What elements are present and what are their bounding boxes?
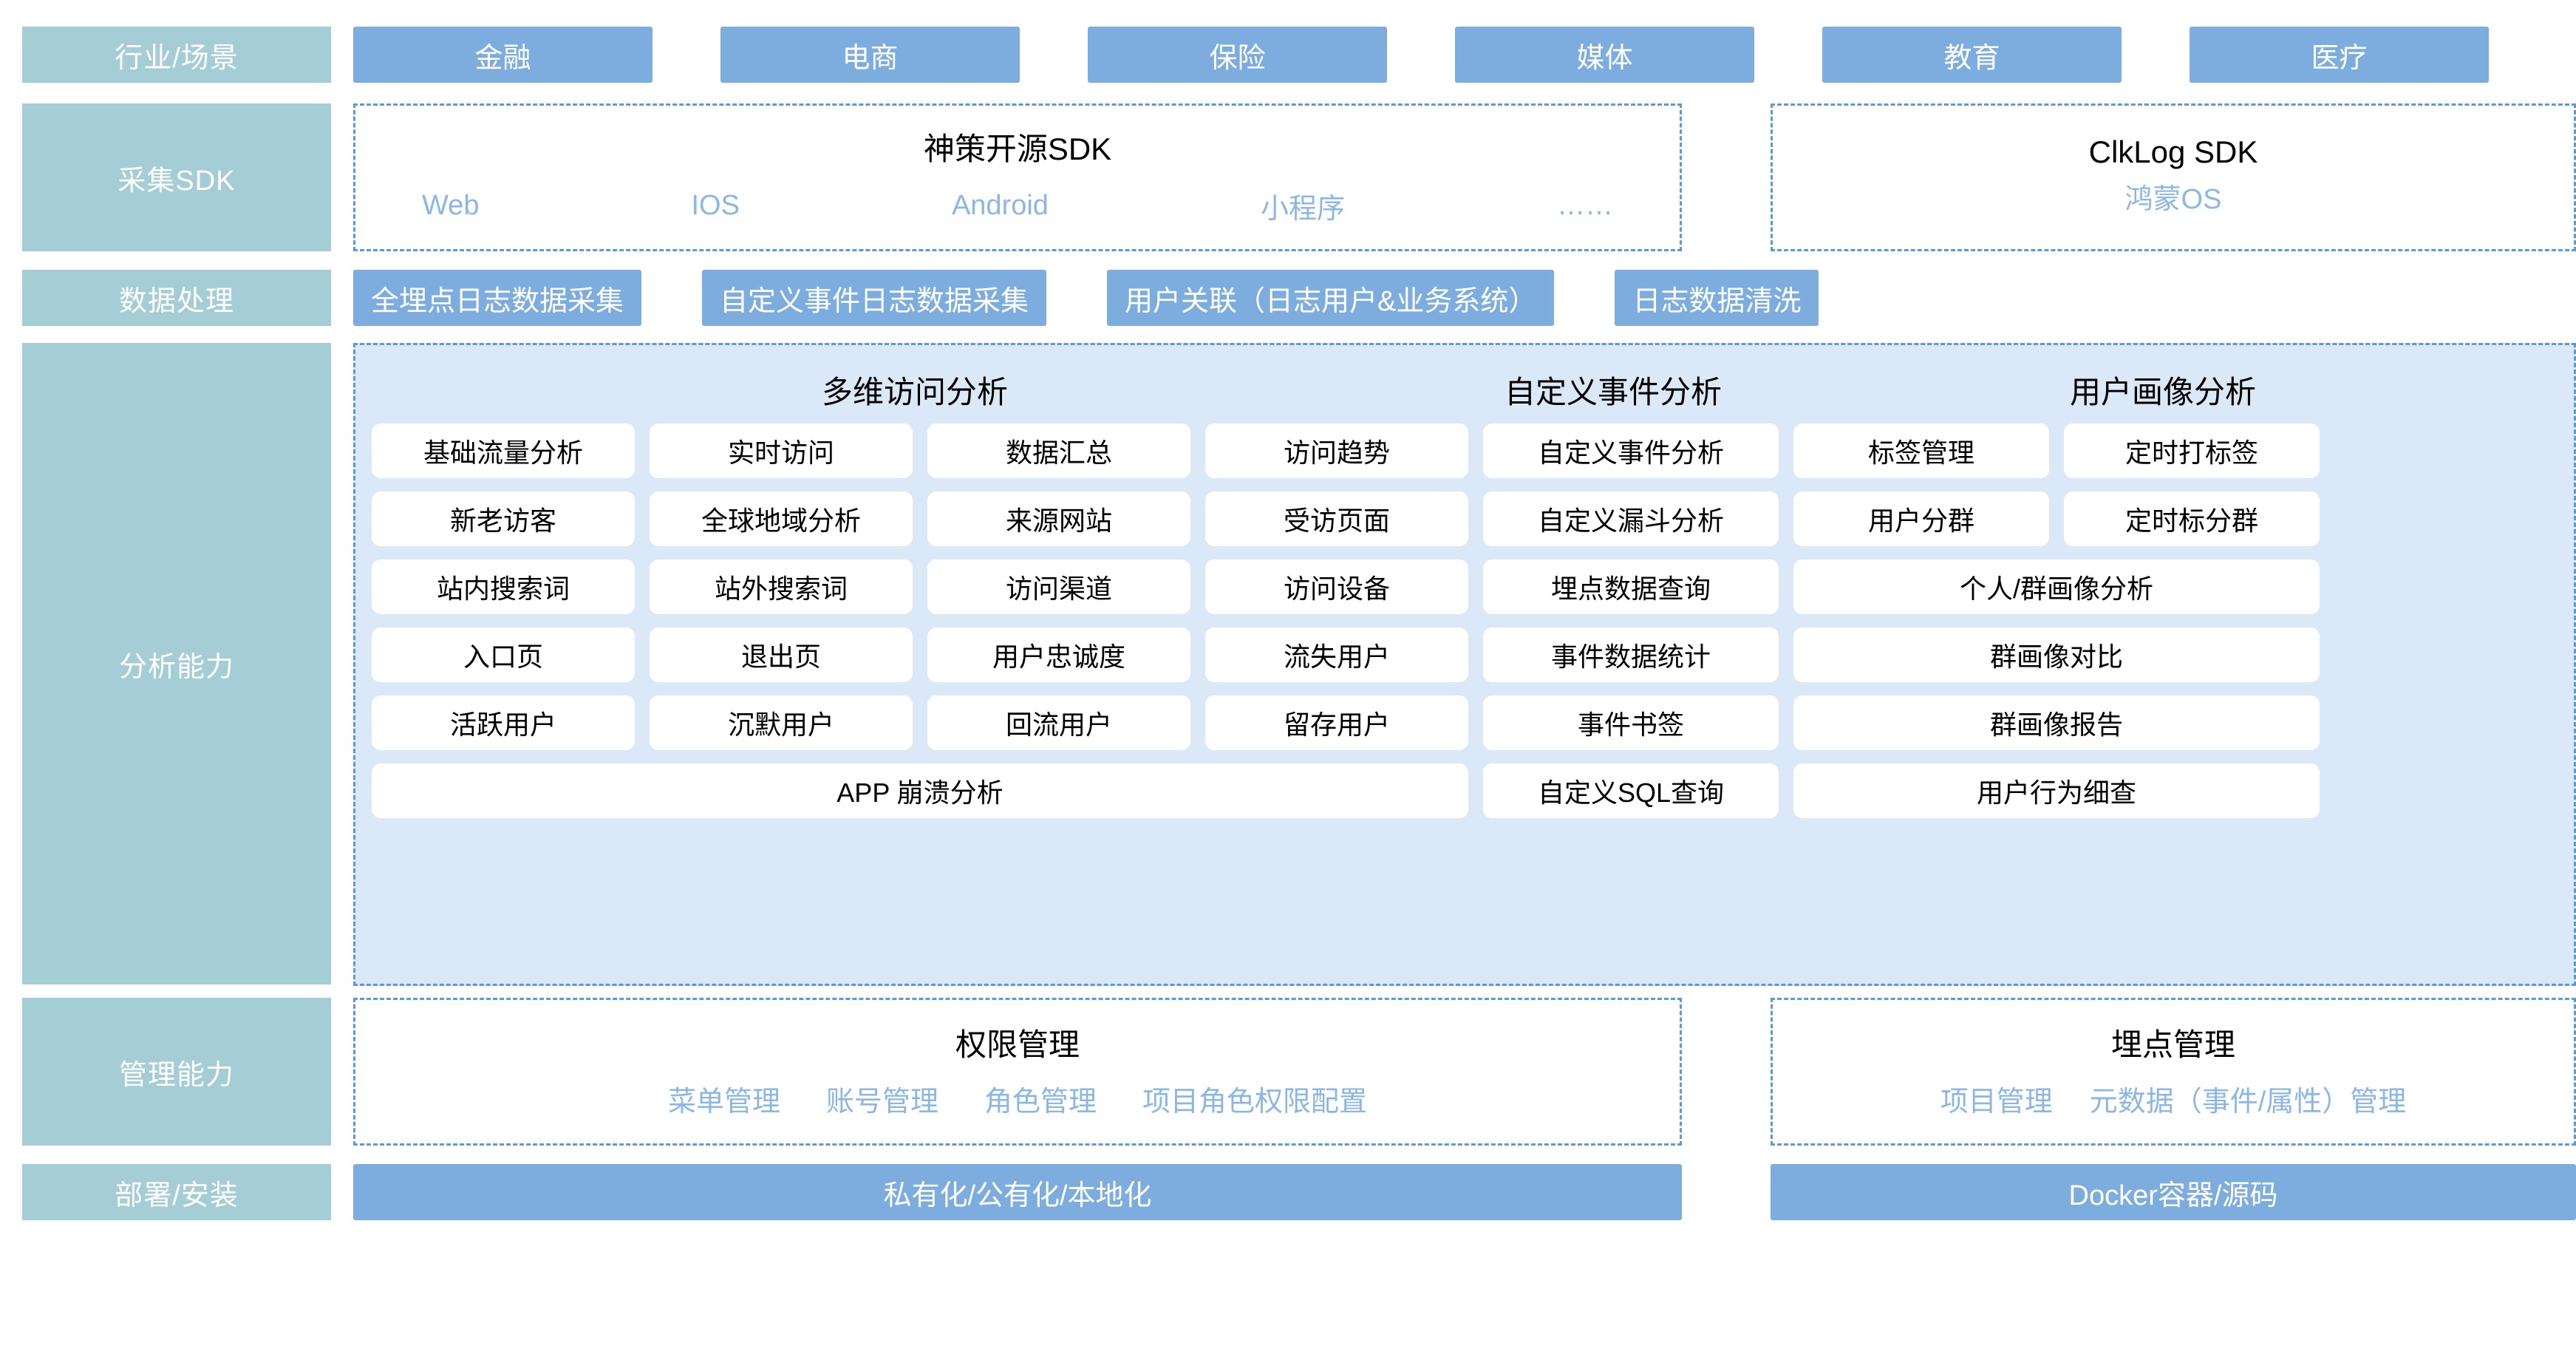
deployment-chip-private-public-local[interactable]: 私有化/公有化/本地化 <box>353 1164 1682 1220</box>
analysis-cell-individual-group-profile[interactable]: 个人/群画像分析 <box>1793 559 2320 614</box>
sdk-platform-list: Web IOS Android 小程序 …… <box>355 186 1680 226</box>
analysis-cell-group-profile-comparison[interactable]: 群画像对比 <box>1793 627 2320 682</box>
industry-chip-media[interactable]: 媒体 <box>1455 27 1754 83</box>
sdk-platform-android[interactable]: Android <box>952 190 1049 222</box>
management-group-title: 埋点管理 <box>2111 1020 2235 1065</box>
analysis-column-headers: 多维访问分析 自定义事件分析 用户画像分析 <box>372 355 2558 423</box>
stage-label-industry: 行业/场景 <box>22 27 331 83</box>
permission-item-list: 菜单管理 账号管理 角色管理 项目角色权限配置 <box>668 1078 1367 1119</box>
stage-label-management-capability: 管理能力 <box>22 998 331 1146</box>
analysis-header-multidimensional-visit: 多维访问分析 <box>372 367 1458 412</box>
analysis-cell-tag-management[interactable]: 标签管理 <box>1793 423 2049 478</box>
permission-item-account-management[interactable]: 账号管理 <box>826 1078 938 1119</box>
analysis-grid-row: 入口页 退出页 用户忠诚度 流失用户 事件数据统计 群画像对比 <box>372 627 2558 682</box>
analysis-grid-row: 活跃用户 沉默用户 回流用户 留存用户 事件书签 群画像报告 <box>372 695 2558 750</box>
sdk-platform-harmonyos[interactable]: 鸿蒙OS <box>2125 176 2222 217</box>
analysis-cell-landing-pages[interactable]: 受访页面 <box>1205 491 1468 546</box>
analysis-cell-churned-users[interactable]: 流失用户 <box>1205 627 1468 682</box>
management-group-tracking: 埋点管理 项目管理 元数据（事件/属性）管理 <box>1771 998 2576 1146</box>
analysis-cell-user-segmentation[interactable]: 用户分群 <box>1793 491 2049 546</box>
sdk-group-shence-opensource: 神策开源SDK Web IOS Android 小程序 …… <box>353 103 1682 251</box>
analysis-cell-custom-sql-query[interactable]: 自定义SQL查询 <box>1483 763 1779 818</box>
analysis-cell-visit-device[interactable]: 访问设备 <box>1205 559 1468 614</box>
stage-label-analysis-capability: 分析能力 <box>22 343 331 984</box>
analysis-grid-row: 基础流量分析 实时访问 数据汇总 访问趋势 自定义事件分析 标签管理 定时打标签 <box>372 423 2558 478</box>
analysis-feature-grid: 基础流量分析 实时访问 数据汇总 访问趋势 自定义事件分析 标签管理 定时打标签… <box>372 423 2558 967</box>
analysis-cell-scheduled-segmentation[interactable]: 定时标分群 <box>2064 491 2320 546</box>
permission-item-menu-management[interactable]: 菜单管理 <box>668 1078 780 1119</box>
analysis-cell-visit-trend[interactable]: 访问趋势 <box>1205 423 1468 478</box>
sdk-platform-ios[interactable]: IOS <box>691 190 739 222</box>
sdk-group-list: 神策开源SDK Web IOS Android 小程序 …… ClkLog SD… <box>331 103 2576 251</box>
industry-chip-list: 金融 电商 保险 媒体 教育 医疗 <box>331 18 2576 92</box>
tracking-item-metadata-management[interactable]: 元数据（事件/属性）管理 <box>2090 1078 2407 1119</box>
row-data-processing: 数据处理 全埋点日志数据采集 自定义事件日志数据采集 用户关联（日志用户&业务系… <box>0 265 2576 331</box>
permission-item-role-management[interactable]: 角色管理 <box>984 1078 1097 1119</box>
analysis-cell-global-region[interactable]: 全球地域分析 <box>650 491 913 546</box>
analysis-cell-exit-page[interactable]: 退出页 <box>650 627 913 682</box>
management-group-list: 权限管理 菜单管理 账号管理 角色管理 项目角色权限配置 埋点管理 项目管理 元… <box>331 998 2576 1146</box>
industry-chip-education[interactable]: 教育 <box>1822 27 2122 83</box>
analysis-cell-realtime-visit[interactable]: 实时访问 <box>650 423 913 478</box>
industry-chip-ecommerce[interactable]: 电商 <box>720 27 1020 83</box>
tracking-item-list: 项目管理 元数据（事件/属性）管理 <box>1940 1078 2407 1119</box>
sdk-platform-more-ellipsis: …… <box>1557 190 1613 222</box>
processing-chip-full-tracking-log-collection[interactable]: 全埋点日志数据采集 <box>353 270 641 326</box>
stage-label-collection-sdk: 采集SDK <box>22 103 331 251</box>
processing-chip-custom-event-log-collection[interactable]: 自定义事件日志数据采集 <box>702 270 1046 326</box>
analysis-cell-returning-users[interactable]: 回流用户 <box>927 695 1190 750</box>
architecture-diagram: 行业/场景 金融 电商 保险 媒体 教育 医疗 采集SDK 神策开源SDK We… <box>0 18 2576 1371</box>
analysis-header-custom-event: 自定义事件分析 <box>1458 367 1768 412</box>
analysis-cell-data-summary[interactable]: 数据汇总 <box>927 423 1190 478</box>
analysis-cell-visit-channel[interactable]: 访问渠道 <box>927 559 1190 614</box>
sdk-group-clklog: ClkLog SDK 鸿蒙OS <box>1771 103 2576 251</box>
row-management-capability: 管理能力 权限管理 菜单管理 账号管理 角色管理 项目角色权限配置 埋点管理 项… <box>0 998 2576 1146</box>
analysis-grid-row: 新老访客 全球地域分析 来源网站 受访页面 自定义漏斗分析 用户分群 定时标分群 <box>372 491 2558 546</box>
tracking-item-project-management[interactable]: 项目管理 <box>1940 1078 2053 1119</box>
industry-chip-insurance[interactable]: 保险 <box>1088 27 1387 83</box>
industry-chip-finance[interactable]: 金融 <box>353 27 652 83</box>
processing-chip-list: 全埋点日志数据采集 自定义事件日志数据采集 用户关联（日志用户&业务系统） 日志… <box>331 265 2576 331</box>
sdk-platform-web[interactable]: Web <box>422 190 479 222</box>
stage-label-deployment-install: 部署/安装 <box>22 1164 331 1220</box>
processing-chip-log-data-cleaning[interactable]: 日志数据清洗 <box>1615 270 1819 326</box>
analysis-cell-scheduled-tagging[interactable]: 定时打标签 <box>2064 423 2320 478</box>
deployment-chip-list: 私有化/公有化/本地化 Docker容器/源码 <box>331 1159 2576 1225</box>
management-group-title: 权限管理 <box>955 1020 1080 1065</box>
management-group-permission: 权限管理 菜单管理 账号管理 角色管理 项目角色权限配置 <box>353 998 1682 1146</box>
sdk-platform-list: 鸿蒙OS <box>2125 176 2222 217</box>
analysis-cell-custom-event-analysis[interactable]: 自定义事件分析 <box>1483 423 1779 478</box>
industry-chip-healthcare[interactable]: 医疗 <box>2190 27 2489 83</box>
analysis-header-user-profile: 用户画像分析 <box>1768 367 2558 412</box>
analysis-cell-new-vs-returning[interactable]: 新老访客 <box>372 491 635 546</box>
analysis-cell-onsite-search-terms[interactable]: 站内搜索词 <box>372 559 635 614</box>
deployment-chip-docker-source[interactable]: Docker容器/源码 <box>1771 1164 2576 1220</box>
processing-chip-user-association[interactable]: 用户关联（日志用户&业务系统） <box>1107 270 1554 326</box>
analysis-cell-event-data-statistics[interactable]: 事件数据统计 <box>1483 627 1779 682</box>
analysis-cell-basic-traffic[interactable]: 基础流量分析 <box>372 423 635 478</box>
analysis-cell-user-loyalty[interactable]: 用户忠诚度 <box>927 627 1190 682</box>
sdk-group-title: 神策开源SDK <box>924 124 1111 169</box>
sdk-platform-miniprogram[interactable]: 小程序 <box>1261 186 1345 226</box>
analysis-cell-offsite-search-terms[interactable]: 站外搜索词 <box>650 559 913 614</box>
row-deployment-install: 部署/安装 私有化/公有化/本地化 Docker容器/源码 <box>0 1159 2576 1225</box>
analysis-grid-row: APP 崩溃分析 自定义SQL查询 用户行为细查 <box>372 763 2558 818</box>
analysis-cell-dormant-users[interactable]: 沉默用户 <box>650 695 913 750</box>
permission-item-project-role-config[interactable]: 项目角色权限配置 <box>1142 1078 1367 1119</box>
analysis-grid-row: 站内搜索词 站外搜索词 访问渠道 访问设备 埋点数据查询 个人/群画像分析 <box>372 559 2558 614</box>
row-analysis-capability: 分析能力 多维访问分析 自定义事件分析 用户画像分析 基础流量分析 实时访问 数… <box>0 343 2576 986</box>
analysis-cell-retained-users[interactable]: 留存用户 <box>1205 695 1468 750</box>
analysis-cell-event-bookmark[interactable]: 事件书签 <box>1483 695 1779 750</box>
analysis-cell-tracking-data-query[interactable]: 埋点数据查询 <box>1483 559 1779 614</box>
analysis-cell-app-crash-analysis[interactable]: APP 崩溃分析 <box>372 763 1468 818</box>
stage-label-data-processing: 数据处理 <box>22 270 331 326</box>
sdk-group-title: ClkLog SDK <box>2089 135 2258 170</box>
row-collection-sdk: 采集SDK 神策开源SDK Web IOS Android 小程序 …… Clk… <box>0 103 2576 251</box>
analysis-cell-active-users[interactable]: 活跃用户 <box>372 695 635 750</box>
analysis-cell-entry-page[interactable]: 入口页 <box>372 627 635 682</box>
analysis-cell-custom-funnel[interactable]: 自定义漏斗分析 <box>1483 491 1779 546</box>
analysis-cell-group-profile-report[interactable]: 群画像报告 <box>1793 695 2320 750</box>
analysis-cell-user-behavior-detail[interactable]: 用户行为细查 <box>1793 763 2320 818</box>
analysis-panel: 多维访问分析 自定义事件分析 用户画像分析 基础流量分析 实时访问 数据汇总 访… <box>353 343 2576 986</box>
row-industry-scenario: 行业/场景 金融 电商 保险 媒体 教育 医疗 <box>0 18 2576 92</box>
analysis-cell-referrer-site[interactable]: 来源网站 <box>927 491 1190 546</box>
